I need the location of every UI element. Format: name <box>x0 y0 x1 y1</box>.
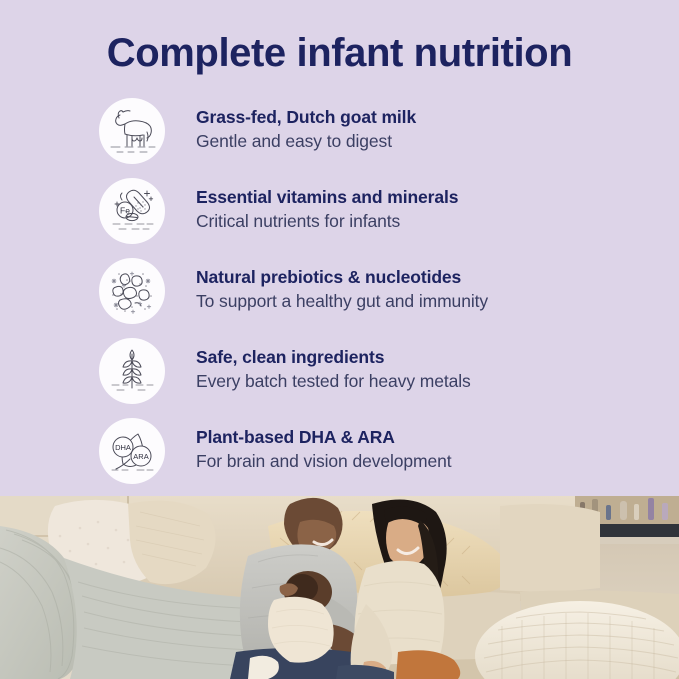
feature-row: Fe Essential vitamins and mine <box>0 176 679 256</box>
feature-title: Essential vitamins and minerals <box>196 185 666 209</box>
feature-title: Plant-based DHA & ARA <box>196 425 666 449</box>
feature-subtitle: To support a healthy gut and immunity <box>196 289 666 314</box>
feature-text: Grass-fed, Dutch goat milk Gentle and ea… <box>196 105 666 154</box>
feature-row: Grass-fed, Dutch goat milk Gentle and ea… <box>0 96 679 176</box>
feature-title: Grass-fed, Dutch goat milk <box>196 105 666 129</box>
feature-subtitle: Critical nutrients for infants <box>196 209 666 234</box>
dha-label: DHA <box>115 443 131 452</box>
page-title: Complete infant nutrition <box>0 30 679 76</box>
feature-subtitle: For brain and vision development <box>196 449 666 474</box>
family-on-sofa-photo <box>0 496 679 679</box>
feature-row: Safe, clean ingredients Every batch test… <box>0 336 679 416</box>
ara-label: ARA <box>133 452 148 461</box>
feature-row: DHA ARA Plant-based DHA & ARA For brain … <box>0 416 679 496</box>
marketing-infographic: Complete infant nutrition <box>0 0 679 679</box>
vitamin-capsule-fe-icon: Fe <box>99 178 165 244</box>
wheat-stalk-icon <box>99 338 165 404</box>
feature-list: Grass-fed, Dutch goat milk Gentle and ea… <box>0 96 679 496</box>
goat-icon <box>99 98 165 164</box>
probiotic-bacteria-icon <box>99 258 165 324</box>
feature-text: Natural prebiotics & nucleotides To supp… <box>196 265 666 314</box>
dha-ara-leaf-icon: DHA ARA <box>99 418 165 484</box>
feature-text: Safe, clean ingredients Every batch test… <box>196 345 666 394</box>
feature-title: Natural prebiotics & nucleotides <box>196 265 666 289</box>
fe-label: Fe <box>120 206 130 216</box>
nutrition-panel: Complete infant nutrition <box>0 0 679 496</box>
feature-text: Plant-based DHA & ARA For brain and visi… <box>196 425 666 474</box>
feature-subtitle: Gentle and easy to digest <box>196 129 666 154</box>
feature-text: Essential vitamins and minerals Critical… <box>196 185 666 234</box>
feature-row: Natural prebiotics & nucleotides To supp… <box>0 256 679 336</box>
feature-subtitle: Every batch tested for heavy metals <box>196 369 666 394</box>
feature-title: Safe, clean ingredients <box>196 345 666 369</box>
